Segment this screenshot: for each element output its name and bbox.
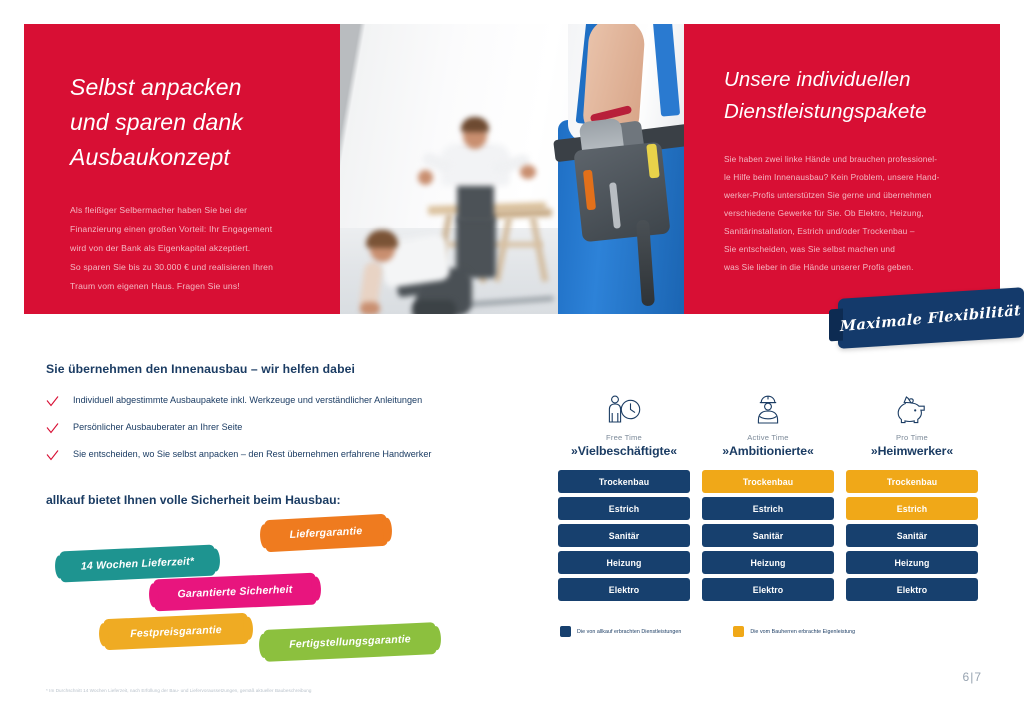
package-row-label: Trockenbau — [887, 477, 937, 487]
guarantee-badges: Liefergarantie 14 Wochen Lieferzeit* Gar… — [46, 508, 466, 658]
ribbon-label: Maximale Flexibilität — [840, 301, 1022, 334]
badge-fertigstellungsgarantie: Fertigstellungsgarantie — [263, 622, 436, 662]
legend-swatch-orange — [733, 626, 744, 637]
legend-item-bauherr: Die vom Bauherren erbrachte Eigenleistun… — [733, 626, 855, 637]
list-item-label: Individuell abgestimmte Ausbaupakete ink… — [73, 394, 422, 406]
package-row-label: Trockenbau — [599, 477, 649, 487]
package-name: »Ambitionierte« — [702, 444, 834, 458]
package-row-label: Elektro — [897, 585, 928, 595]
badge-label: Fertigstellungsgarantie — [289, 633, 411, 651]
hero-left-panel: Selbst anpacken und sparen dank Ausbauko… — [24, 24, 340, 314]
package-column-free-time: Free Time »Vielbeschäftigte« Trockenbau … — [558, 390, 690, 605]
badge-liefergarantie: Liefergarantie — [264, 514, 388, 553]
badge-garantierte-sicherheit: Garantierte Sicherheit — [153, 573, 316, 612]
piggy-bank-icon — [846, 390, 978, 426]
packages-legend: Die von allkauf erbrachten Dienstleistun… — [558, 626, 978, 637]
package-row-list: Trockenbau Estrich Sanitär Heizung Elekt… — [558, 470, 690, 601]
package-row-list: Trockenbau Estrich Sanitär Heizung Elekt… — [702, 470, 834, 601]
package-row-label: Estrich — [753, 504, 784, 514]
package-row: Estrich — [702, 497, 834, 520]
package-row: Trockenbau — [558, 470, 690, 493]
list-item: Sie entscheiden, wo Sie selbst anpacken … — [46, 448, 546, 462]
package-subtitle: Free Time — [558, 433, 690, 442]
photo-back-worker — [418, 170, 433, 185]
person-clock-icon — [558, 390, 690, 426]
package-row: Heizung — [702, 551, 834, 574]
package-row-label: Elektro — [753, 585, 784, 595]
service-packages: Free Time »Vielbeschäftigte« Trockenbau … — [558, 390, 978, 637]
list-item: Individuell abgestimmte Ausbaupakete ink… — [46, 394, 546, 408]
benefits-checklist: Individuell abgestimmte Ausbaupakete ink… — [46, 394, 546, 462]
badge-label: 14 Wochen Lieferzeit* — [81, 555, 195, 572]
legend-swatch-navy — [560, 626, 571, 637]
package-row: Elektro — [558, 578, 690, 601]
package-column-active-time: Active Time »Ambitionierte« Trockenbau E… — [702, 390, 834, 605]
legend-label: Die vom Bauherren erbrachte Eigenleistun… — [750, 629, 855, 635]
package-subtitle: Active Time — [702, 433, 834, 442]
badge-label: Festpreisgarantie — [130, 623, 222, 639]
hero-photo — [340, 24, 684, 314]
package-row: Estrich — [846, 497, 978, 520]
page-number: 6|7 — [963, 670, 982, 684]
package-subtitle: Pro Time — [846, 433, 978, 442]
check-icon — [46, 395, 59, 408]
package-row-label: Sanitär — [753, 531, 784, 541]
package-row: Trockenbau — [846, 470, 978, 493]
badge-festpreisgarantie: Festpreisgarantie — [103, 613, 248, 651]
photo-foreground-worker — [530, 24, 684, 314]
section-heading-innenausbau: Sie übernehmen den Innenausbau – wir hel… — [46, 362, 546, 376]
worker-helmet-icon — [702, 390, 834, 426]
badge-label: Liefergarantie — [289, 525, 362, 541]
package-row: Trockenbau — [702, 470, 834, 493]
package-row-label: Estrich — [609, 504, 640, 514]
package-row-label: Sanitär — [897, 531, 928, 541]
package-row-label: Heizung — [751, 558, 786, 568]
package-row-label: Heizung — [607, 558, 642, 568]
package-row: Heizung — [846, 551, 978, 574]
check-icon — [46, 449, 59, 462]
photo-front-worker — [360, 302, 380, 314]
list-item-label: Sie entscheiden, wo Sie selbst anpacken … — [73, 448, 431, 460]
hero-right-title: Unsere individuellen Dienstleistungspake… — [724, 64, 960, 128]
left-content-column: Sie übernehmen den Innenausbau – wir hel… — [46, 362, 546, 507]
hero-banner: Selbst anpacken und sparen dank Ausbauko… — [24, 24, 1000, 314]
section-heading-sicherheit: allkauf bietet Ihnen volle Sicherheit be… — [46, 493, 546, 507]
photo-front-worker — [366, 230, 398, 248]
hero-right-panel: Unsere individuellen Dienstleistungspake… — [684, 24, 1000, 314]
legend-label: Die von allkauf erbrachten Dienstleistun… — [577, 629, 681, 635]
package-column-pro-time: Pro Time »Heimwerker« Trockenbau Estrich… — [846, 390, 978, 605]
check-icon — [46, 422, 59, 435]
package-row: Elektro — [702, 578, 834, 601]
legend-item-allkauf: Die von allkauf erbrachten Dienstleistun… — [560, 626, 681, 637]
package-row: Sanitär — [702, 524, 834, 547]
package-row-label: Heizung — [895, 558, 930, 568]
list-item: Persönlicher Ausbauberater an Ihrer Seit… — [46, 421, 546, 435]
package-row: Estrich — [558, 497, 690, 520]
hero-left-body: Als fleißiger Selbermacher haben Sie bei… — [70, 201, 300, 296]
package-row-label: Elektro — [609, 585, 640, 595]
package-row: Elektro — [846, 578, 978, 601]
footnote: * Im Durchschnitt 14 Wochen Lieferzeit, … — [46, 688, 311, 693]
list-item-label: Persönlicher Ausbauberater an Ihrer Seit… — [73, 421, 242, 433]
photo-front-worker — [412, 300, 456, 314]
hero-right-body: Sie haben zwei linke Hände und brauchen … — [724, 150, 960, 277]
package-row: Heizung — [558, 551, 690, 574]
badge-label: Garantierte Sicherheit — [177, 584, 292, 601]
photo-back-worker — [461, 117, 489, 132]
flexibility-ribbon: Maximale Flexibilität — [838, 287, 1024, 349]
package-name: »Vielbeschäftigte« — [558, 444, 690, 458]
package-row-list: Trockenbau Estrich Sanitär Heizung Elekt… — [846, 470, 978, 601]
package-row: Sanitär — [846, 524, 978, 547]
package-name: »Heimwerker« — [846, 444, 978, 458]
package-row-label: Sanitär — [609, 531, 640, 541]
package-row-label: Trockenbau — [743, 477, 793, 487]
package-row-label: Estrich — [897, 504, 928, 514]
hero-left-title: Selbst anpacken und sparen dank Ausbauko… — [70, 70, 300, 175]
package-row: Sanitär — [558, 524, 690, 547]
